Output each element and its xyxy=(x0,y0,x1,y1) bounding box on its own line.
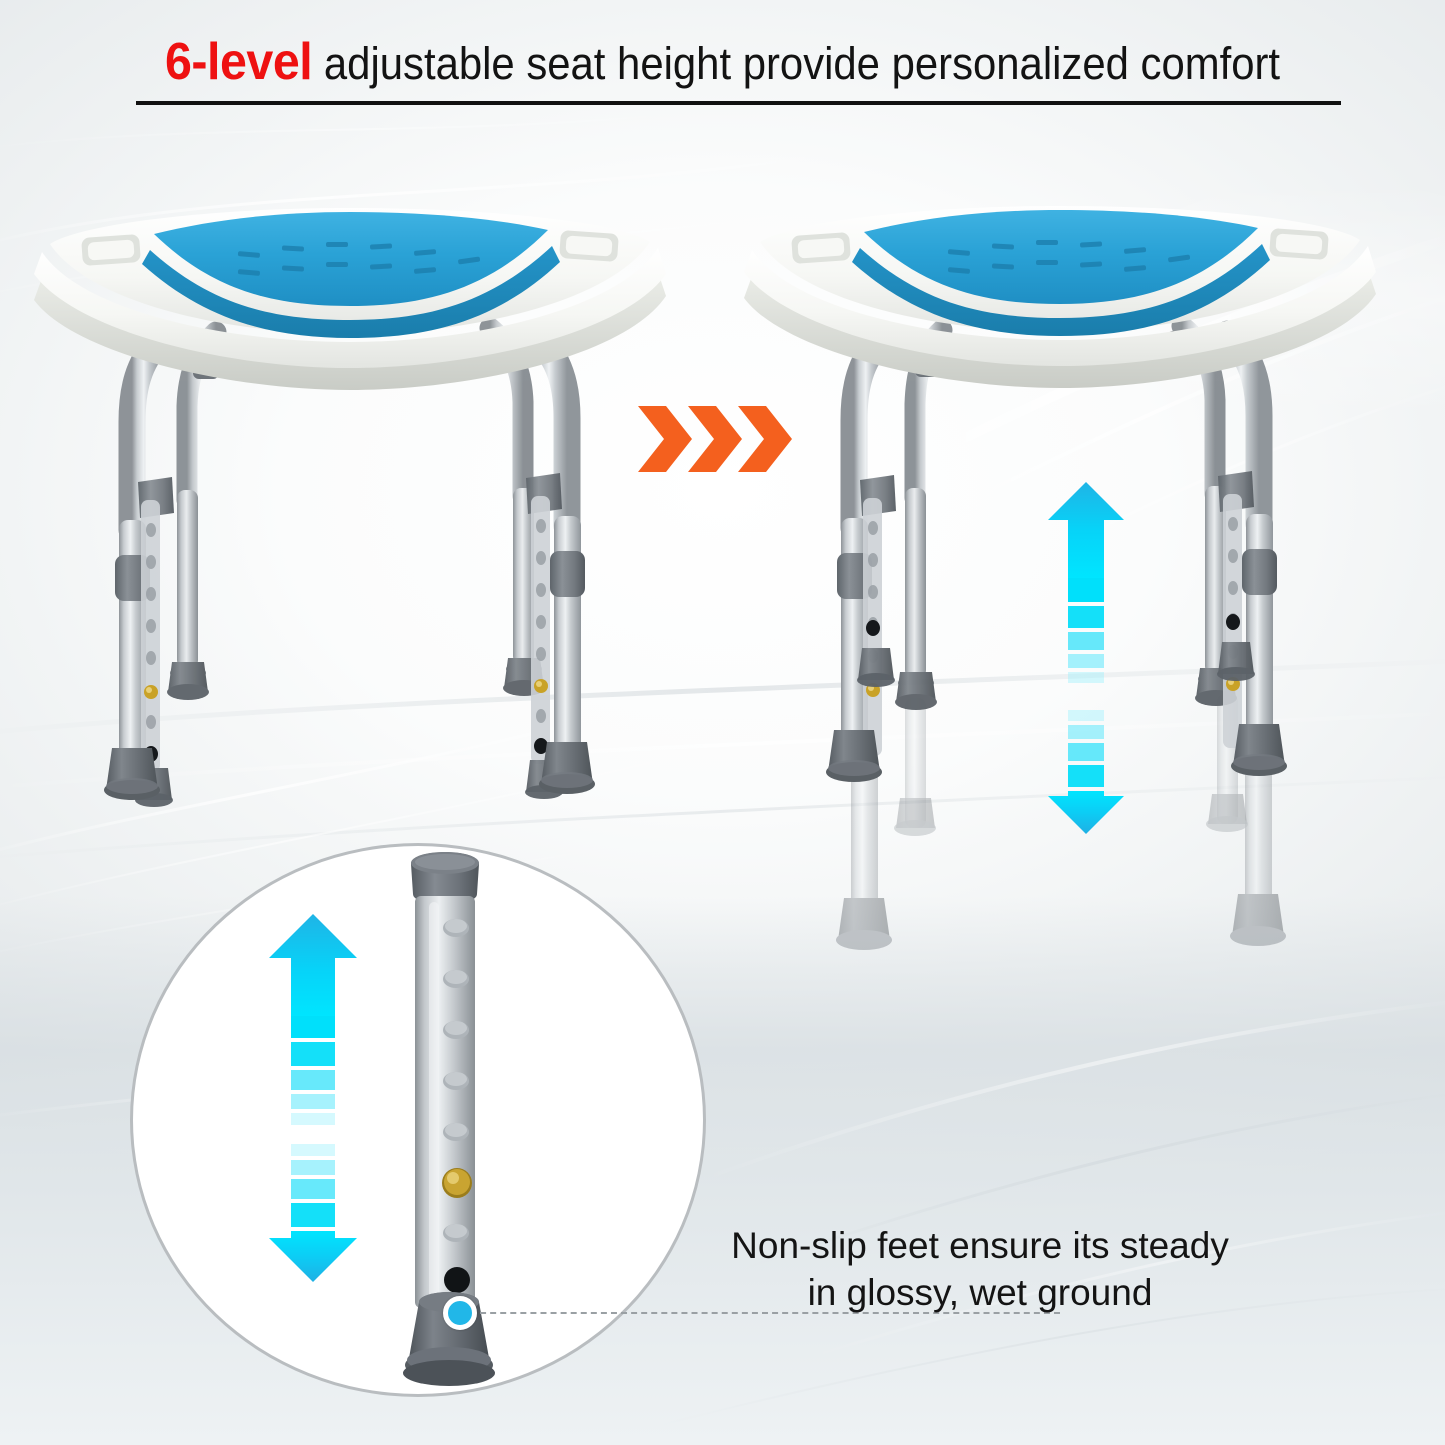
non-slip-feet-caption: Non-slip feet ensure its steady in gloss… xyxy=(690,1222,1270,1317)
headline-rest: adjustable seat height provide personali… xyxy=(312,38,1280,89)
height-range-arrow-main xyxy=(1036,478,1136,838)
left-stool-low-height xyxy=(20,200,700,820)
headline-highlight: 6-level xyxy=(165,33,312,91)
arrow-fade-steps-upper xyxy=(1068,606,1104,683)
non-slip-foot-marker-dot xyxy=(443,1296,477,1330)
inset-brass-pin xyxy=(442,1168,472,1198)
right-stool-front-left-leg xyxy=(826,338,896,782)
left-stool-front-left-leg xyxy=(104,340,174,807)
inset-height-range-arrow xyxy=(269,914,357,1282)
arrow-down-icon xyxy=(1048,791,1124,834)
infographic-canvas: 6-level adjustable seat height provide p… xyxy=(0,0,1445,1445)
arrow-fade-steps-lower xyxy=(1068,710,1104,787)
caption-line-2: in glossy, wet ground xyxy=(690,1269,1270,1316)
right-stool-seat xyxy=(744,206,1376,388)
inset-open-hole xyxy=(444,1267,470,1293)
right-leg-open-hole xyxy=(866,620,880,636)
headline-underline xyxy=(136,101,1341,105)
arrow-up-icon xyxy=(1048,482,1124,602)
caption-line-1: Non-slip feet ensure its steady xyxy=(690,1222,1270,1269)
right-stool-front-right-leg xyxy=(1217,334,1287,776)
left-stool-front-right-leg xyxy=(525,336,595,799)
headline: 6-level adjustable seat height provide p… xyxy=(0,36,1445,88)
